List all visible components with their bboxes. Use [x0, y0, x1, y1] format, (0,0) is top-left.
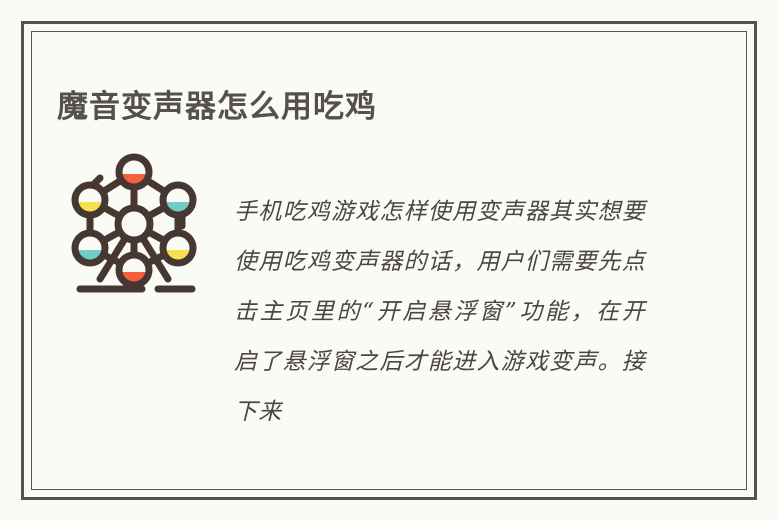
ferris-wheel-icon [70, 148, 198, 293]
page-content: 魔音变声器怎么用吃鸡 [0, 0, 777, 520]
article-body-text: 手机吃鸡游戏怎样使用变声器其实想要使用吃鸡变声器的话，用户们需要先点击主页里的“… [234, 187, 646, 437]
article-page: 魔音变声器怎么用吃鸡 [0, 0, 777, 520]
page-title: 魔音变声器怎么用吃鸡 [57, 87, 377, 127]
